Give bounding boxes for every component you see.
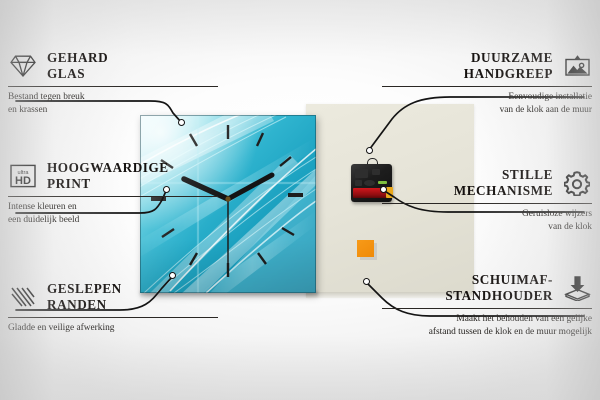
slanted-lines-icon: [8, 282, 38, 312]
feature-title: DUURZAME HANDGREEP: [464, 50, 553, 82]
feature-duurzame-handgreep: DUURZAME HANDGREEP Eenvoudige installati…: [382, 50, 592, 117]
connector-dot-handgreep: [366, 147, 373, 154]
feature-description: Gladde en veilige afwerking: [8, 322, 218, 335]
picture-frame-icon: [562, 51, 592, 81]
feature-divider: [8, 86, 218, 87]
feature-divider: [382, 203, 592, 204]
feature-header: STILLE MECHANISME: [382, 167, 592, 199]
feature-gehard-glas: GEHARD GLAS Bestand tegen breuk en krass…: [8, 50, 218, 117]
feature-divider: [8, 196, 218, 197]
svg-text:HD: HD: [15, 175, 31, 187]
feature-title: STILLE MECHANISME: [454, 167, 553, 199]
feature-header: DUURZAME HANDGREEP: [382, 50, 592, 82]
feature-title: SCHUIMAF- STANDHOUDER: [445, 272, 553, 304]
feature-divider: [8, 317, 218, 318]
feature-title: HOOGWAARDIGE PRINT: [47, 160, 169, 192]
feature-description: Eenvoudige installatie van de klok aan d…: [382, 91, 592, 117]
feature-header: GEHARD GLAS: [8, 50, 218, 82]
feature-description: Intense kleuren en een duidelijk beeld: [8, 201, 218, 227]
feature-description: Maakt het behouden van een gelijke afsta…: [382, 313, 592, 339]
feature-description: Bestand tegen breuk en krassen: [8, 91, 218, 117]
connector-dot-schuim: [363, 278, 370, 285]
connector-dot-print: [163, 186, 170, 193]
feature-header: SCHUIMAF- STANDHOUDER: [382, 272, 592, 304]
feature-schuimaf-standhouder: SCHUIMAF- STANDHOUDER Maakt het behouden…: [382, 272, 592, 339]
feature-header: GESLEPEN RANDEN: [8, 281, 218, 313]
feature-divider: [382, 86, 592, 87]
feature-hoogwaardige-print: ultra HD HOOGWAARDIGE PRINT Intense kleu…: [8, 160, 218, 227]
feature-stille-mechanisme: STILLE MECHANISME Geruisloze wijzers van…: [382, 167, 592, 234]
feature-geslepen-randen: GESLEPEN RANDEN Gladde en veilige afwerk…: [8, 281, 218, 335]
connector-dot-gehard-glas: [178, 119, 185, 126]
infographic-canvas: GEHARD GLAS Bestand tegen breuk en krass…: [0, 0, 600, 400]
feature-header: ultra HD HOOGWAARDIGE PRINT: [8, 160, 218, 192]
feature-title: GEHARD GLAS: [47, 50, 108, 82]
feature-description: Geruisloze wijzers van de klok: [382, 208, 592, 234]
gear-icon: [562, 168, 592, 198]
connector-dot-randen: [169, 272, 176, 279]
connector-dot-mechanisme: [380, 186, 387, 193]
ultra-hd-icon: ultra HD: [8, 161, 38, 191]
diamond-icon: [8, 51, 38, 81]
press-down-foam-icon: [562, 273, 592, 303]
feature-title: GESLEPEN RANDEN: [47, 281, 122, 313]
feature-divider: [382, 308, 592, 309]
